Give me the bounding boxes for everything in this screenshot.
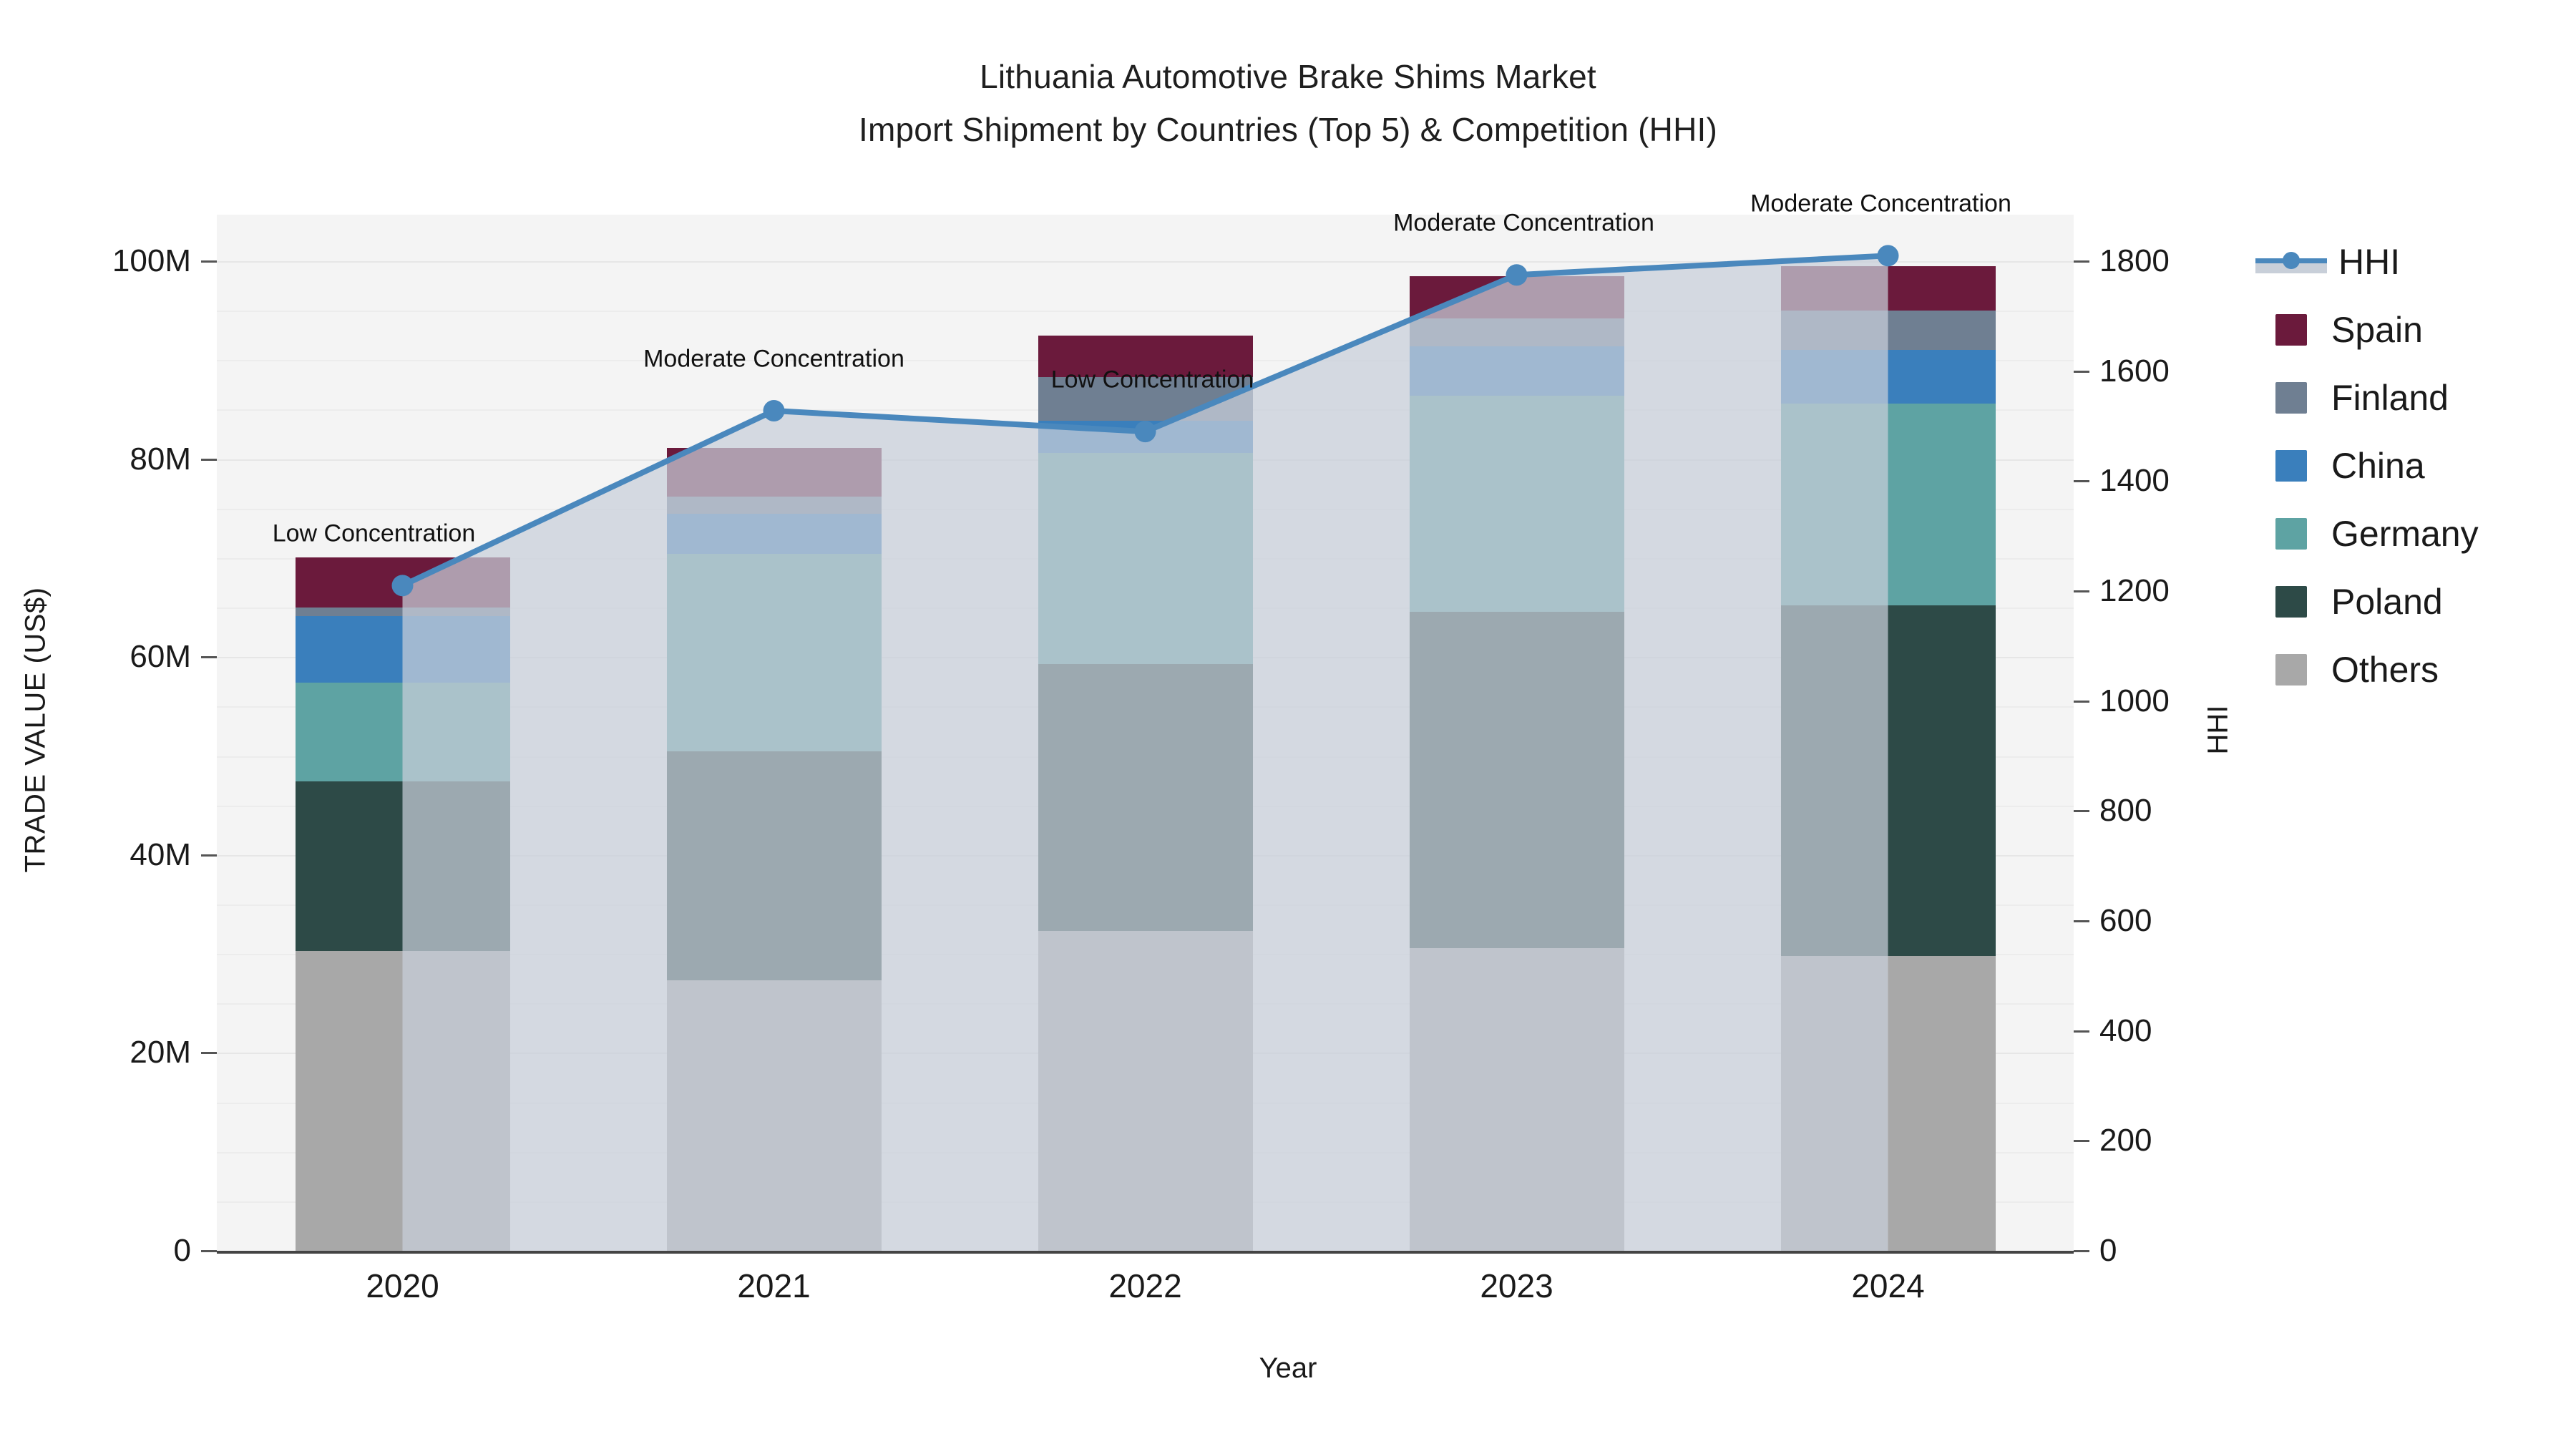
legend-label-hhi: HHI xyxy=(2338,241,2400,283)
y-axis-left-title: TRADE VALUE (US$) xyxy=(20,551,52,909)
hhi-point-2021[interactable] xyxy=(763,400,785,421)
x-axis-spine xyxy=(217,1251,2074,1254)
y-axis-right-tick xyxy=(2074,810,2089,812)
legend-line-marker xyxy=(2283,252,2300,269)
x-axis-tick-label-2021: 2021 xyxy=(737,1267,810,1305)
y-axis-right-tick-label: 1600 xyxy=(2099,353,2170,389)
x-axis-tick-label-2022: 2022 xyxy=(1108,1267,1181,1305)
y-axis-left-tick xyxy=(201,854,217,857)
legend-label-others: Others xyxy=(2331,649,2439,691)
y-axis-right-tick-label: 200 xyxy=(2099,1123,2152,1158)
y-axis-left-tick-label: 40M xyxy=(130,837,191,873)
y-axis-right-tick xyxy=(2074,480,2089,482)
y-axis-right-tick-label: 0 xyxy=(2099,1233,2117,1269)
y-axis-right-tick-label: 1000 xyxy=(2099,683,2170,719)
x-axis-tick-label-2024: 2024 xyxy=(1851,1267,1924,1305)
y-axis-right-tick xyxy=(2074,701,2089,703)
legend-swatch-germany xyxy=(2275,518,2307,550)
x-axis-tick-label-2023: 2023 xyxy=(1480,1267,1553,1305)
y-axis-left-tick xyxy=(201,260,217,263)
y-axis-left-title-wrap: TRADE VALUE (US$) xyxy=(10,544,53,916)
y-axis-right-tick xyxy=(2074,371,2089,373)
y-axis-right-tick xyxy=(2074,1030,2089,1033)
legend-item-germany[interactable]: Germany xyxy=(2275,499,2576,567)
annotation-2020: Low Concentration xyxy=(273,520,476,548)
legend-swatch-finland xyxy=(2275,382,2307,414)
y-axis-right-tick xyxy=(2074,1250,2089,1252)
y-axis-left-tick-label: 100M xyxy=(112,243,191,279)
legend-item-finland[interactable]: Finland xyxy=(2275,364,2576,431)
y-axis-right-title-wrap: HHI xyxy=(2197,658,2240,801)
x-axis-title: Year xyxy=(0,1352,2576,1385)
y-axis-left-tick-label: 0 xyxy=(174,1233,191,1269)
plot-area: Low ConcentrationModerate ConcentrationL… xyxy=(217,215,2074,1251)
hhi-point-2023[interactable] xyxy=(1506,264,1528,286)
legend-swatch-poland xyxy=(2275,586,2307,618)
y-axis-right-tick-label: 1200 xyxy=(2099,573,2170,609)
hhi-point-2024[interactable] xyxy=(1878,245,1899,266)
legend-swatch-others xyxy=(2275,654,2307,686)
legend-item-others[interactable]: Others xyxy=(2275,635,2576,703)
y-axis-right-tick-label: 600 xyxy=(2099,903,2152,939)
y-axis-right-tick-label: 400 xyxy=(2099,1013,2152,1049)
y-axis-right-tick xyxy=(2074,1140,2089,1142)
y-axis-right-tick-label: 1400 xyxy=(2099,463,2170,499)
y-axis-left-tick xyxy=(201,1052,217,1054)
y-axis-right-tick xyxy=(2074,590,2089,592)
y-axis-right-title: HHI xyxy=(2202,658,2235,801)
y-axis-right-tick xyxy=(2074,260,2089,263)
annotation-2021: Moderate Concentration xyxy=(643,345,904,373)
legend-line-icon xyxy=(2255,246,2327,278)
legend-label-spain: Spain xyxy=(2331,309,2423,351)
hhi-point-2020[interactable] xyxy=(392,575,414,596)
legend[interactable]: HHISpainFinlandChinaGermanyPolandOthers xyxy=(2275,228,2576,703)
y-axis-right-tick xyxy=(2074,920,2089,922)
legend-swatch-china xyxy=(2275,450,2307,482)
hhi-point-2022[interactable] xyxy=(1135,421,1156,442)
y-axis-left-tick-label: 60M xyxy=(130,639,191,675)
annotation-2022: Low Concentration xyxy=(1051,366,1254,394)
legend-label-finland: Finland xyxy=(2331,377,2449,419)
legend-item-spain[interactable]: Spain xyxy=(2275,296,2576,364)
y-axis-left-tick-label: 80M xyxy=(130,441,191,477)
legend-label-china: China xyxy=(2331,445,2425,487)
legend-label-poland: Poland xyxy=(2331,581,2443,623)
hhi-area-fill xyxy=(403,255,1888,1251)
y-axis-left-tick-label: 20M xyxy=(130,1035,191,1070)
y-axis-left-tick xyxy=(201,1250,217,1252)
x-axis-tick-label-2020: 2020 xyxy=(366,1267,439,1305)
annotation-2023: Moderate Concentration xyxy=(1393,210,1654,238)
y-axis-left-tick xyxy=(201,459,217,461)
annotation-2024: Moderate Concentration xyxy=(1750,190,2011,218)
legend-swatch-spain xyxy=(2275,314,2307,346)
legend-item-china[interactable]: China xyxy=(2275,431,2576,499)
y-axis-left-tick xyxy=(201,656,217,658)
y-axis-right-tick-label: 1800 xyxy=(2099,243,2170,279)
y-axis-right-tick-label: 800 xyxy=(2099,793,2152,829)
legend-item-hhi[interactable]: HHI xyxy=(2275,228,2576,296)
legend-label-germany: Germany xyxy=(2331,513,2479,555)
legend-item-poland[interactable]: Poland xyxy=(2275,567,2576,635)
